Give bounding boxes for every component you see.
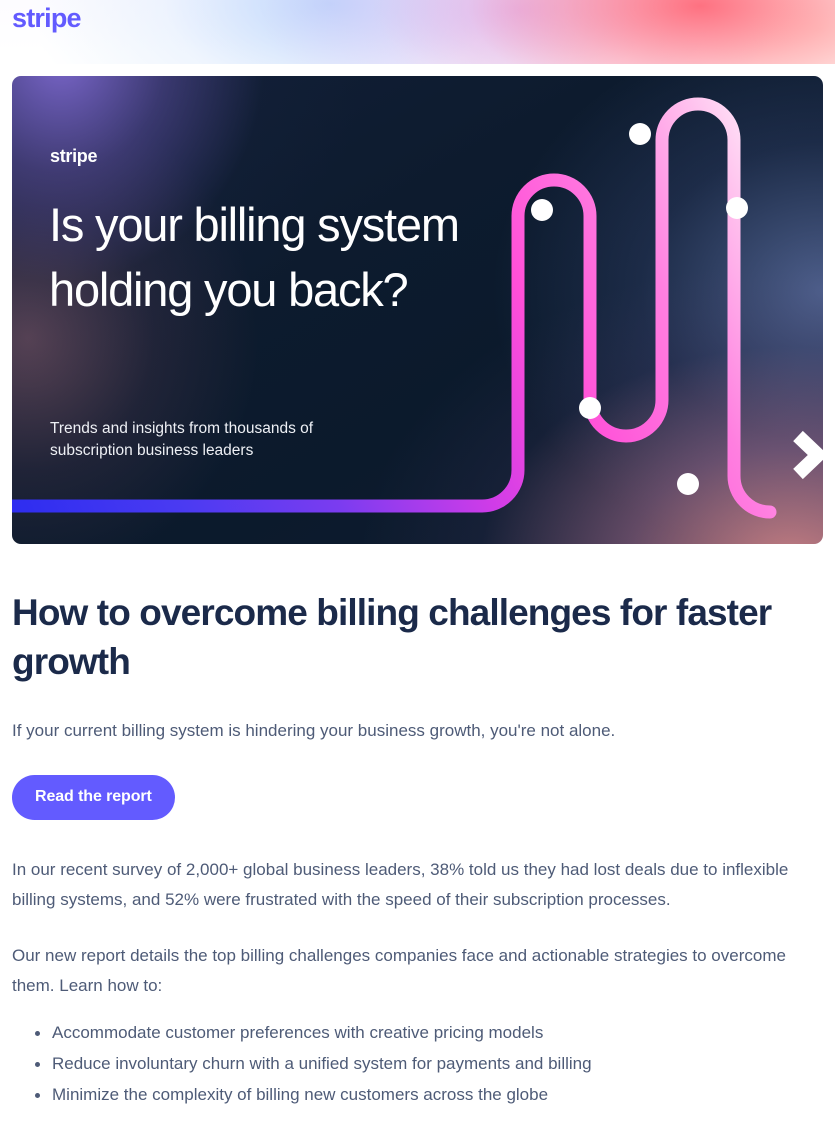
hero-stripe-logo: stripe: [50, 146, 97, 167]
hero-banner[interactable]: stripe Is your billing system holding yo…: [12, 76, 823, 544]
list-item: Accommodate customer preferences with cr…: [52, 1018, 823, 1048]
cta-container: Read the report: [12, 775, 823, 820]
page-title: How to overcome billing challenges for f…: [12, 588, 823, 686]
hero-title: Is your billing system holding you back?: [49, 192, 519, 322]
list-item: Minimize the complexity of billing new c…: [52, 1080, 823, 1110]
lede-text: If your current billing system is hinder…: [12, 718, 823, 744]
email-body: How to overcome billing challenges for f…: [0, 588, 835, 1110]
benefits-list: Accommodate customer preferences with cr…: [12, 1018, 823, 1110]
body-paragraph-2: Our new report details the top billing c…: [12, 941, 823, 1001]
stripe-logo[interactable]: stripe: [12, 3, 81, 34]
hero-subtitle: Trends and insights from thousands of su…: [50, 418, 390, 462]
read-the-report-button[interactable]: Read the report: [12, 775, 175, 820]
list-item: Reduce involuntary churn with a unified …: [52, 1049, 823, 1079]
email-header-band: stripe: [0, 0, 835, 64]
body-paragraph-1: In our recent survey of 2,000+ global bu…: [12, 855, 823, 915]
